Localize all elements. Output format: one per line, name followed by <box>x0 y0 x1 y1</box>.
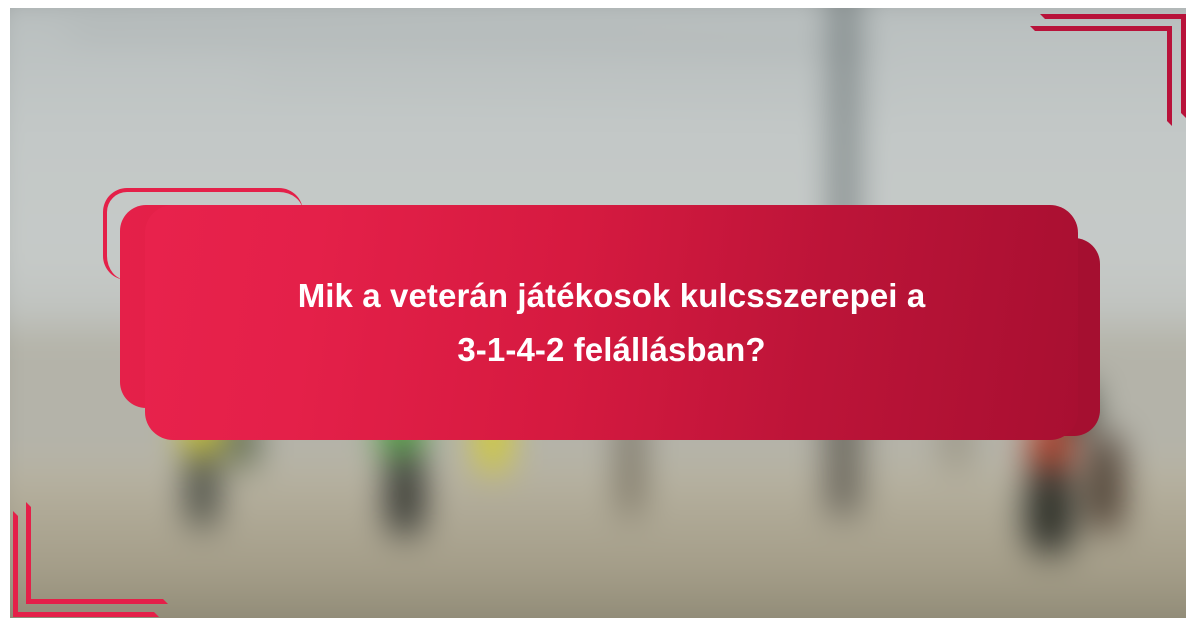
headline-card: Mik a veterán játékosok kulcsszerepei a … <box>145 205 1078 440</box>
headline-card-inner: Mik a veterán játékosok kulcsszerepei a … <box>145 269 1078 376</box>
page-title: Mik a veterán játékosok kulcsszerepei a … <box>201 269 1022 376</box>
page-margin-top <box>0 0 1200 8</box>
page-margin-left <box>0 0 10 630</box>
photo-figure <box>188 449 217 527</box>
corner-bracket-bottom-left-inner <box>26 502 168 604</box>
photo-figure <box>1088 432 1123 530</box>
page-margin-right <box>1186 0 1200 630</box>
photo-figure <box>388 449 423 535</box>
photo-figure <box>1026 463 1073 553</box>
social-card-canvas: Mik a veterán játékosok kulcsszerepei a … <box>0 0 1200 630</box>
page-margin-bottom <box>0 618 1200 630</box>
corner-bracket-top-right-inner <box>1030 26 1172 126</box>
photo-ground <box>0 460 1200 630</box>
